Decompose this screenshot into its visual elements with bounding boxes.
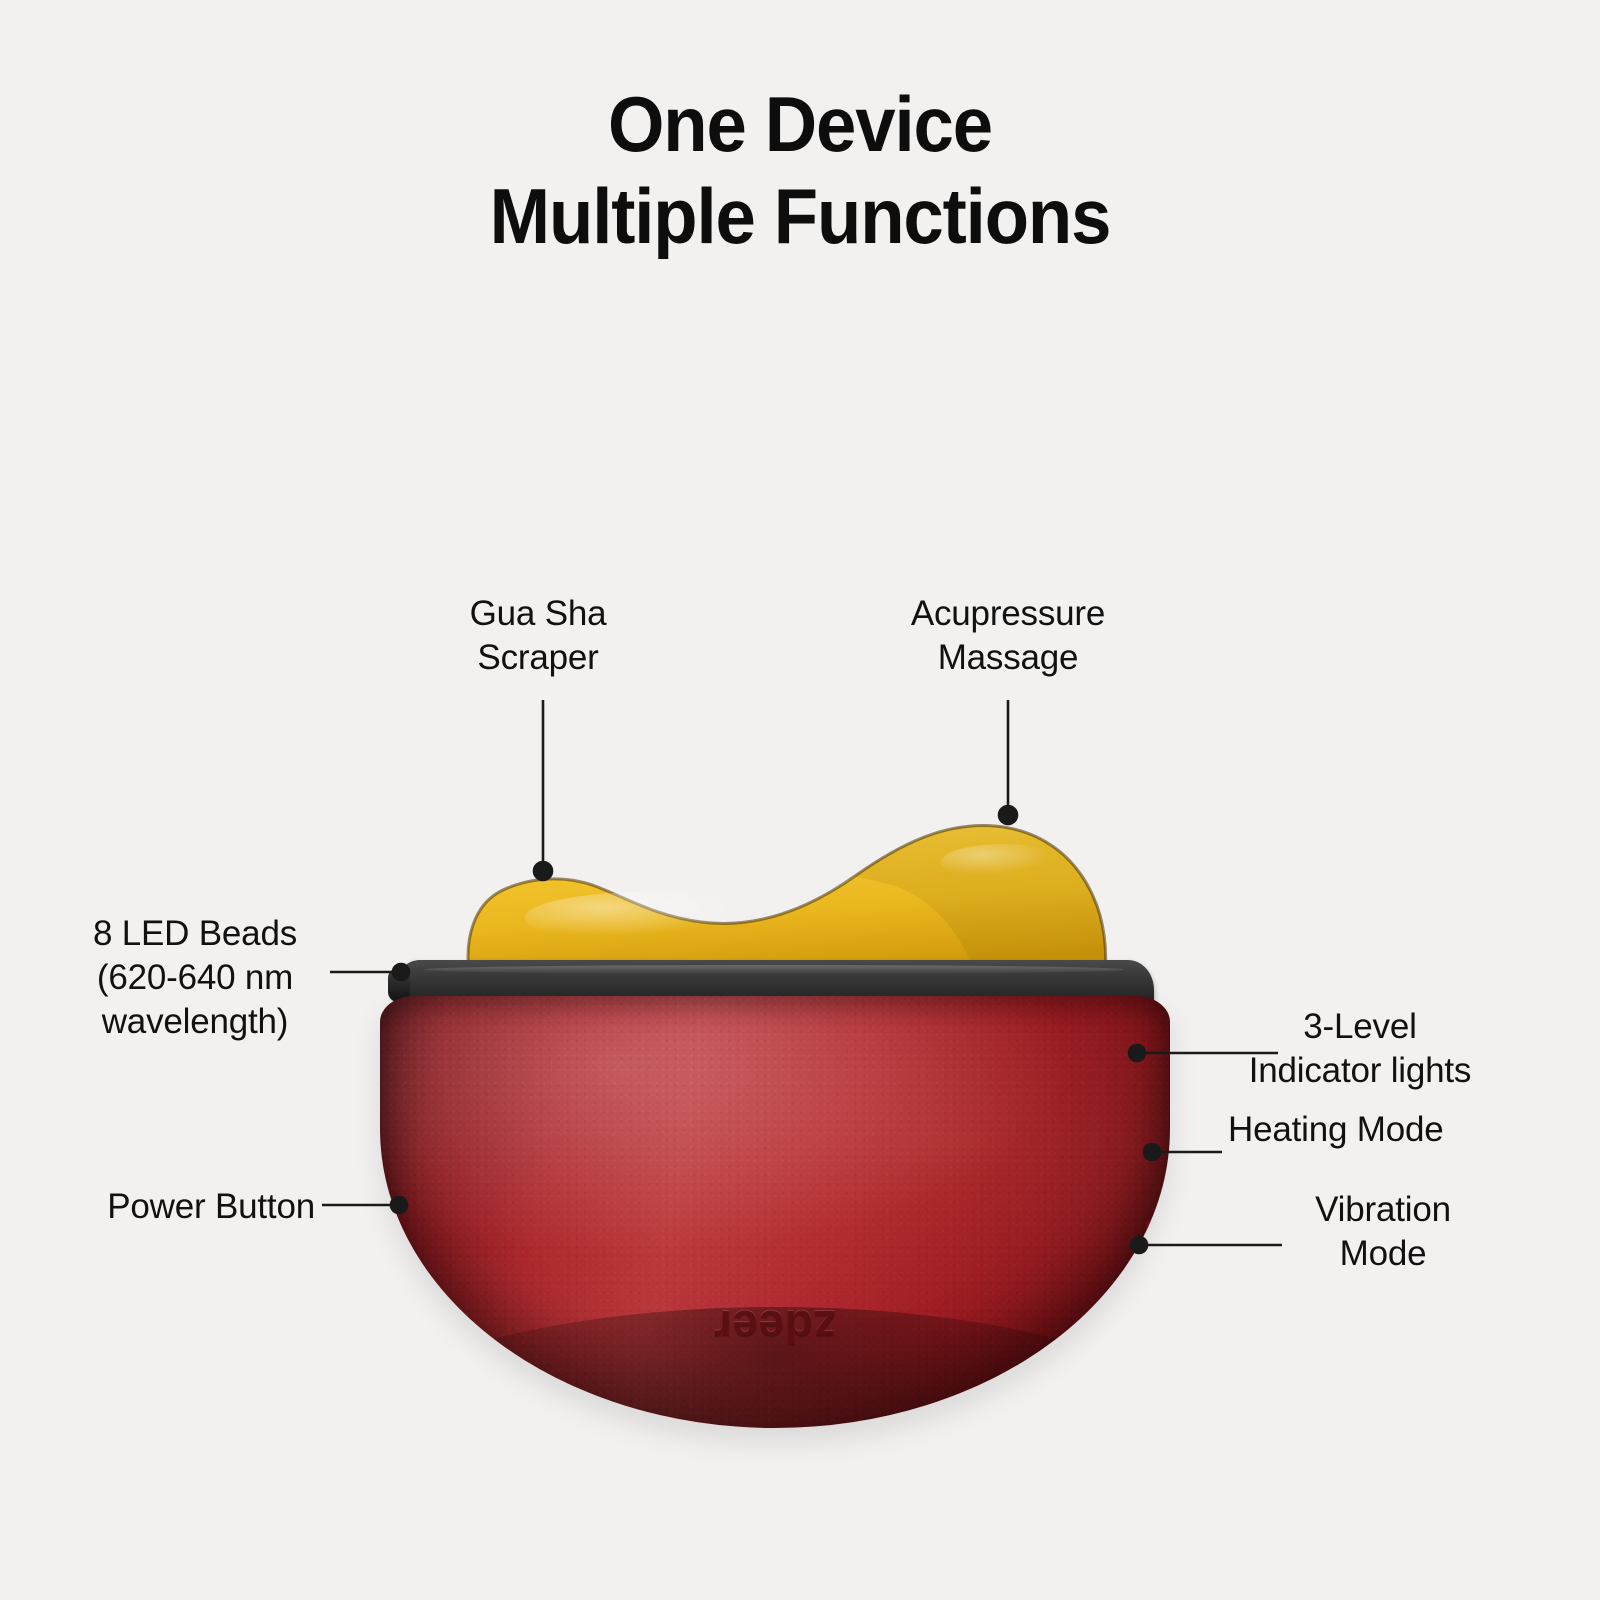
- callout-label-heating-mode: Heating Mode: [1228, 1108, 1568, 1152]
- vibration-mode-nub[interactable]: [1142, 1410, 1156, 1428]
- callout-label-indicator-lights: 3-Level Indicator lights: [1215, 1005, 1505, 1093]
- title-line-1: One Device: [56, 78, 1544, 170]
- callout-label-gua-sha-scraper: Gua Sha Scraper: [403, 592, 673, 680]
- page-title: One Device Multiple Functions: [56, 78, 1544, 262]
- device-body-red: zdeer: [380, 996, 1170, 1428]
- power-button-nub[interactable]: [392, 1378, 408, 1428]
- indicator-lights-nub[interactable]: [1145, 1220, 1160, 1294]
- callout-label-power-button: Power Button: [30, 1185, 315, 1229]
- brand-logo: zdeer: [714, 1300, 837, 1354]
- callout-label-led-beads: 8 LED Beads (620-640 nm wavelength): [50, 912, 340, 1044]
- callout-label-acupressure-massage: Acupressure Massage: [858, 592, 1158, 680]
- callout-label-vibration-mode: Vibration Mode: [1248, 1188, 1518, 1276]
- title-line-2: Multiple Functions: [56, 170, 1544, 262]
- heating-mode-nub[interactable]: [1147, 1318, 1162, 1388]
- infographic-canvas: One Device Multiple Functions Gua Sha Sc…: [0, 0, 1600, 1600]
- product-illustration: zdeer: [360, 800, 1200, 1440]
